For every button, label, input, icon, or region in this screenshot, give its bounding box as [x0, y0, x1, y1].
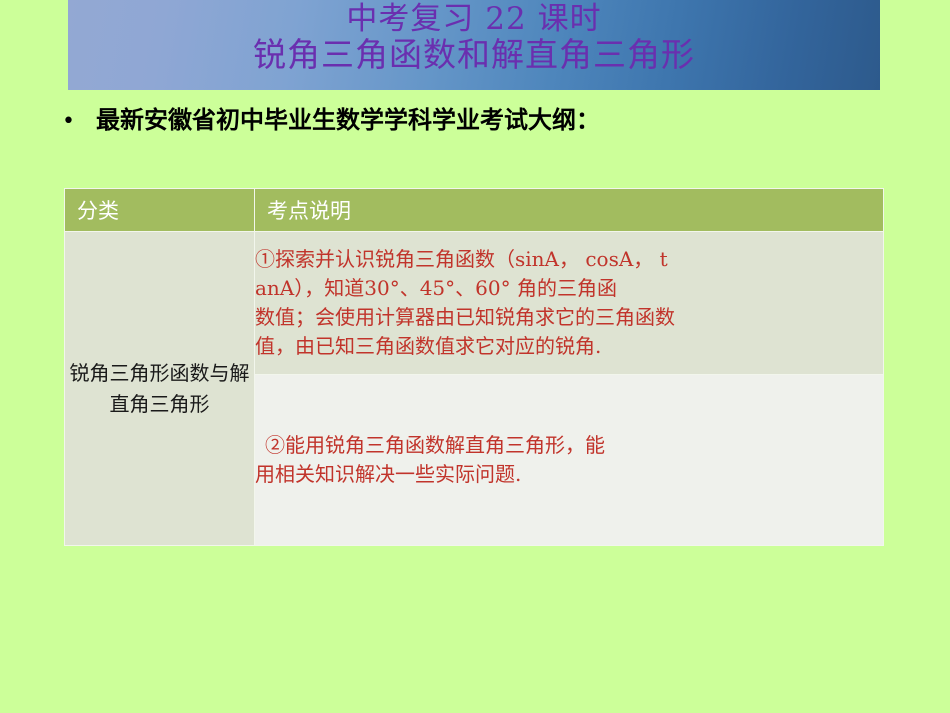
- detail-line: ②能用锐角三角函数解直角三角形，能: [255, 431, 883, 460]
- slide-title-line-2: 锐角三角函数和解直角三角形: [68, 37, 880, 74]
- detail-line: 值，由已知三角函数值求它对应的锐角.: [255, 332, 883, 361]
- title-banner: 中考复习 22 课时 锐角三角函数和解直角三角形: [68, 0, 880, 90]
- detail-line: 用相关知识解决一些实际问题.: [255, 460, 883, 489]
- bullet-row: • 最新安徽省初中毕业生数学学科学业考试大纲：: [62, 100, 600, 135]
- table-cell-detail-1: ①探索并认识锐角三角函数（sinA， cosA， t anA），知道30°、45…: [255, 232, 884, 375]
- bullet-text: 最新安徽省初中毕业生数学学科学业考试大纲：: [96, 100, 600, 135]
- table-header-detail: 考点说明: [255, 189, 884, 232]
- table-cell-category: 锐角三角形函数与解直角三角形: [65, 232, 255, 546]
- table-header-row: 分类 考点说明: [65, 189, 884, 232]
- bullet-marker-icon: •: [62, 111, 96, 133]
- slide-title-line-1: 中考复习 22 课时: [68, 2, 880, 37]
- slide-title: 中考复习 22 课时 锐角三角函数和解直角三角形: [68, 2, 880, 74]
- detail-line: ①探索并认识锐角三角函数（sinA， cosA， t: [255, 245, 883, 274]
- detail-line: anA），知道30°、45°、60° 角的三角函: [255, 274, 883, 303]
- exam-outline-table: 分类 考点说明 锐角三角形函数与解直角三角形 ①探索并认识锐角三角函数（sinA…: [64, 188, 884, 546]
- detail-line: 数值；会使用计算器由已知锐角求它的三角函数: [255, 303, 883, 332]
- table-cell-detail-2: ②能用锐角三角函数解直角三角形，能 用相关知识解决一些实际问题.: [255, 375, 884, 546]
- table-header-category: 分类: [65, 189, 255, 232]
- table-row: 锐角三角形函数与解直角三角形 ①探索并认识锐角三角函数（sinA， cosA， …: [65, 232, 884, 375]
